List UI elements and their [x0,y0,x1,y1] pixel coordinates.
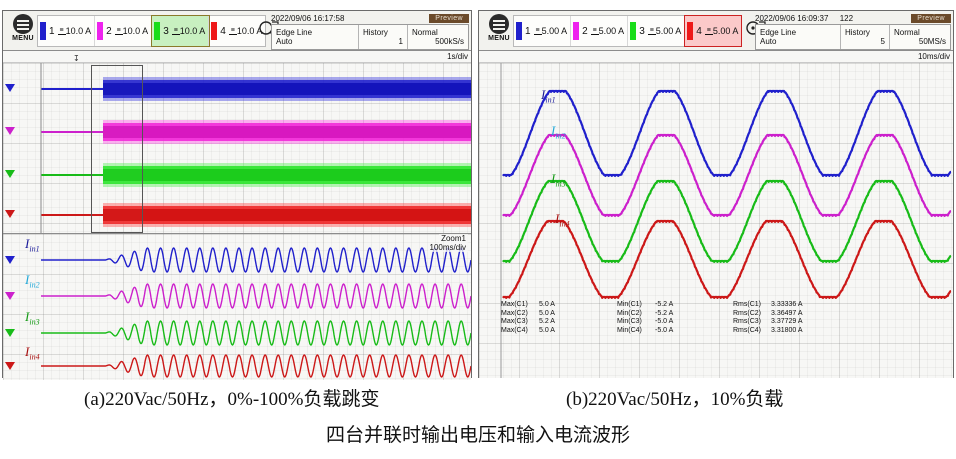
channel-2-number: 2 [582,26,588,37]
channel-2-coupling-icon: ≡ [115,28,123,35]
channel-4-button[interactable]: 4 ≡ 5.00 A [685,16,741,46]
channel-3-coupling-icon: ≡ [172,28,180,35]
menu-button-right[interactable]: MENU [484,14,514,43]
channel-4-color-swatch [687,22,693,40]
zoom-channel-3-marker[interactable] [4,329,16,340]
wave-label-iin3-left: Iin3 [25,309,40,327]
waveform-area-right[interactable]: Iin1 Iin2 Iin3 Iin4 Max(C1)5.0 A Max(C2)… [479,63,953,378]
time-div-left: 1s/div [447,52,468,61]
channel-4-color-swatch [211,22,217,40]
hamburger-icon [13,14,33,34]
channel-3-number: 3 [639,26,645,37]
channel-1-color-swatch [516,22,522,40]
measurement-name: Max(C4) [501,327,539,336]
measurement-name: Min(C1) [617,301,655,310]
channel-2-color-swatch [573,22,579,40]
menu-button-label: MENU [484,35,514,43]
status-panel-right: 2022/09/06 16:09:37 122 Preview Edge Lin… [755,12,951,50]
measurement-name: Rms(C1) [733,301,771,310]
measurement-name: Min(C3) [617,318,655,327]
channel-3-color-swatch [630,22,636,40]
channel-2-coupling-icon: ≡ [591,28,599,35]
wave-label-iin4-right: Iin4 [555,211,570,229]
measurement-row: Min(C2)-5.2 A [617,310,707,319]
measurement-value: -5.2 A [655,301,707,310]
trigger-mode-left: Auto [276,37,354,46]
channel-4-coupling-icon: ≡ [705,28,713,35]
trigger-cell-right[interactable]: Edge Line Auto [756,25,841,49]
channel-3-button[interactable]: 3 ≡ 5.00 A [628,16,685,46]
trigger-type-right: Edge Line [760,28,836,37]
measurement-row: Rms(C1)3.33336 A [733,301,823,310]
wave-label-iin4-left: Iin4 [25,344,40,362]
wave-label-sub: in3 [29,318,39,327]
channel-4-number: 4 [696,26,702,37]
channel-2-button[interactable]: 2 ≡ 10.0 A [95,16,152,46]
wave-label-sub: in2 [29,281,39,290]
channel-1-color-swatch [40,22,46,40]
channel-1-coupling-icon: ≡ [534,28,542,35]
wave-label-sub: in4 [559,220,569,229]
measurement-name: Rms(C3) [733,318,771,327]
history-label-left: History [363,28,403,37]
channel-3-coupling-icon: ≡ [648,28,656,35]
measurement-name: Max(C1) [501,301,539,310]
measurement-value: -5.2 A [655,310,707,319]
trigger-mode-right: Auto [760,37,836,46]
channel-bar-left: 1 ≡ 10.0 A 2 ≡ 10.0 A 3 ≡ 10.0 A [37,15,266,47]
measurement-column-rms: Rms(C1)3.33336 A Rms(C2)3.36497 A Rms(C3… [733,301,823,335]
wave-label-iin3-right: Iin3 [551,171,566,189]
channel-1-coupling-icon: ≡ [58,28,66,35]
measurement-value: 3.33336 A [771,301,823,310]
waveform-plot-left-zoom [3,234,471,380]
toolbar-right: MENU 1 ≡ 5.00 A 2 ≡ 5.00 A 3 [479,11,953,51]
wave-label-iin1-right: Iin1 [541,87,556,105]
zoom-waveform-area-left[interactable]: Zoom1 100ms/div Iin1 Iin2 Iin3 Iin4 [3,234,471,380]
history-cell-left[interactable]: History 1 [359,25,408,49]
channel-4-scale: 5.00 A [713,27,739,36]
measurement-row: Max(C4)5.0 A [501,327,591,336]
measurement-row: Max(C3)5.2 A [501,318,591,327]
measurement-column-min: Min(C1)-5.2 A Min(C2)-5.2 A Min(C3)-5.0 … [617,301,707,335]
channel-3-number: 3 [163,26,169,37]
channel-4-number: 4 [220,26,226,37]
acquisition-cell-right[interactable]: Normal 50MS/s [890,25,950,49]
measurement-row: Rms(C2)3.36497 A [733,310,823,319]
measurement-name: Min(C4) [617,327,655,336]
measurement-value: 3.36497 A [771,310,823,319]
channel-1-ground-marker[interactable] [4,84,16,95]
frame-count-right: 122 [834,14,864,23]
preview-badge-left[interactable]: Preview [429,14,469,23]
menu-button-left[interactable]: MENU [8,14,38,43]
wave-label-iin2-left: Iin2 [25,272,40,290]
measurement-row: Min(C4)-5.0 A [617,327,707,336]
subfigure-caption-a: (a)220Vac/50Hz，0%-100%负载跳变 [84,384,379,411]
wave-label-sub: in4 [29,353,39,362]
preview-badge-right[interactable]: Preview [911,14,951,23]
wave-label-sub: in3 [555,180,565,189]
history-value-right: 5 [845,37,885,46]
sample-rate-left: 500kS/s [412,37,464,46]
channel-2-color-swatch [97,22,103,40]
menu-button-label: MENU [8,35,38,43]
measurement-name: Max(C2) [501,310,539,319]
trigger-position-marker[interactable]: ↧ [73,54,80,63]
hamburger-icon [489,14,509,34]
zoom-channel-4-marker[interactable] [4,362,16,373]
acquisition-cell-left[interactable]: Normal 500kS/s [408,25,468,49]
channel-3-ground-marker[interactable] [4,170,16,181]
channel-4-button[interactable]: 4 ≡ 10.0 A [209,16,265,46]
measurement-name: Rms(C4) [733,327,771,336]
channel-4-ground-marker[interactable] [4,210,16,221]
acq-mode-right: Normal [894,28,946,37]
channel-2-number: 2 [106,26,112,37]
trigger-type-left: Edge Line [276,28,354,37]
history-cell-right[interactable]: History 5 [841,25,890,49]
trigger-cell-left[interactable]: Edge Line Auto [272,25,359,49]
wave-label-sub: in2 [555,132,565,141]
measurement-value: -5.0 A [655,318,707,327]
measurement-value: -5.0 A [655,327,707,336]
measurement-value: 3.37729 A [771,318,823,327]
channel-1-scale: 10.0 A [66,27,92,36]
wave-label-sub: in1 [29,245,39,254]
measurement-row: Min(C1)-5.2 A [617,301,707,310]
datetime-right: 2022/09/06 16:09:37 [755,14,834,23]
channel-4-coupling-icon: ≡ [229,28,237,35]
waveform-plot-left-main [3,63,471,233]
measurement-row: Min(C3)-5.0 A [617,318,707,327]
figure-root: MENU 1 ≡ 10.0 A 2 ≡ 10.0 A 3 [0,0,956,459]
channel-1-button[interactable]: 1 ≡ 10.0 A [38,16,95,46]
subfigure-caption-b: (b)220Vac/50Hz，10%负载 [566,384,783,411]
oscilloscope-screenshot-a: MENU 1 ≡ 10.0 A 2 ≡ 10.0 A 3 [2,10,472,378]
channel-2-ground-marker[interactable] [4,127,16,138]
channel-1-button[interactable]: 1 ≡ 5.00 A [514,16,571,46]
zoom-channel-2-marker[interactable] [4,292,16,303]
measurement-row: Rms(C3)3.37729 A [733,318,823,327]
measurement-readout-panel[interactable]: Max(C1)5.0 A Max(C2)5.0 A Max(C3)5.2 A M… [501,301,823,335]
measurement-row: Max(C1)5.0 A [501,301,591,310]
main-waveform-area-left[interactable]: ↧ [3,63,471,234]
measurement-name: Min(C2) [617,310,655,319]
wave-label-iin1-left: Iin1 [25,236,40,254]
measurement-value: 5.0 A [539,301,591,310]
channel-1-scale: 5.00 A [542,27,568,36]
toolbar-left: MENU 1 ≡ 10.0 A 2 ≡ 10.0 A 3 [3,11,471,51]
measurement-value: 5.2 A [539,318,591,327]
channel-3-scale: 10.0 A [180,27,206,36]
channel-bar-right: 1 ≡ 5.00 A 2 ≡ 5.00 A 3 ≡ 5.00 A [513,15,742,47]
channel-1-number: 1 [49,26,55,37]
measurement-row: Max(C2)5.0 A [501,310,591,319]
channel-1-number: 1 [525,26,531,37]
history-value-left: 1 [363,37,403,46]
measurement-value: 5.0 A [539,327,591,336]
measurement-value: 3.31800 A [771,327,823,336]
channel-2-scale: 10.0 A [123,27,149,36]
measurement-name: Max(C3) [501,318,539,327]
acq-mode-left: Normal [412,28,464,37]
figure-caption: 四台并联时输出电压和输入电流波形 [0,420,956,447]
wave-label-sub: in1 [545,96,555,105]
wave-label-iin2-right: Iin2 [551,123,566,141]
zoom-time-div: 100ms/div [428,243,468,252]
channel-3-scale: 5.00 A [656,27,682,36]
sample-rate-right: 50MS/s [894,37,946,46]
measurement-column-max: Max(C1)5.0 A Max(C2)5.0 A Max(C3)5.2 A M… [501,301,591,335]
channel-3-color-swatch [154,22,160,40]
status-panel-left: 2022/09/06 16:17:58 Preview Edge Line Au… [271,12,469,50]
zoom-channel-1-marker[interactable] [4,256,16,267]
history-label-right: History [845,28,885,37]
measurement-value: 5.0 A [539,310,591,319]
measurement-row: Rms(C4)3.31800 A [733,327,823,336]
channel-3-button[interactable]: 3 ≡ 10.0 A [152,16,209,46]
oscilloscope-screenshot-b: MENU 1 ≡ 5.00 A 2 ≡ 5.00 A 3 [478,10,954,378]
measurement-name: Rms(C2) [733,310,771,319]
channel-2-button[interactable]: 2 ≡ 5.00 A [571,16,628,46]
datetime-left: 2022/09/06 16:17:58 [271,14,350,23]
time-div-right: 10ms/div [918,52,950,61]
zoom-label: Zoom1 [439,234,468,243]
channel-2-scale: 5.00 A [599,27,625,36]
